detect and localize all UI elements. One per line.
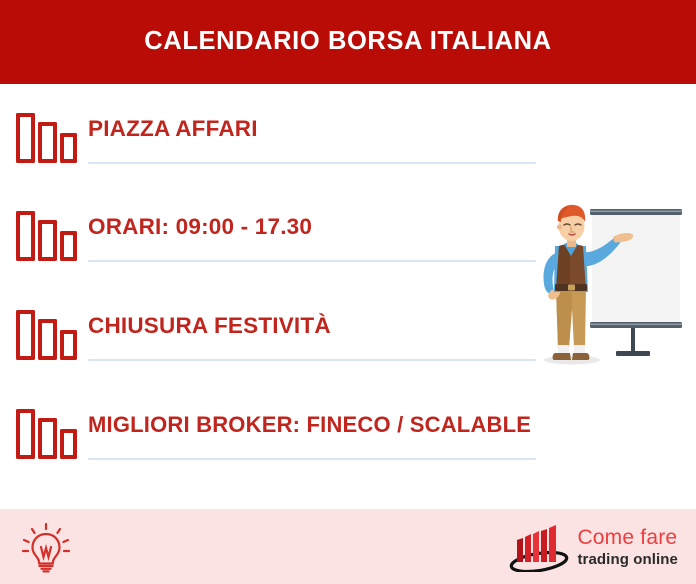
- bar-chart-icon: [16, 211, 78, 261]
- list-item: PIAZZA AFFARI: [16, 112, 536, 186]
- bar-chart-icon: [16, 113, 78, 163]
- figure-belt-buckle: [568, 285, 575, 291]
- figure-sock-left: [558, 345, 569, 354]
- list-item-divider: [88, 458, 536, 460]
- figure-sock-right: [574, 345, 585, 354]
- list-item-divider: [88, 359, 536, 361]
- bar-chart-icon-bar-1: [16, 211, 35, 261]
- flipchart-stand: [616, 324, 650, 356]
- header-band: CALENDARIO BORSA ITALIANA: [0, 0, 696, 84]
- list-item: MIGLIORI BROKER: FINECO / SCALABLE: [16, 408, 536, 482]
- page-title: CALENDARIO BORSA ITALIANA: [144, 29, 551, 55]
- list-item-label: ORARI: 09:00 - 17.30: [88, 210, 536, 244]
- list-item-body: ORARI: 09:00 - 17.30: [78, 210, 536, 244]
- logo-bars: [517, 525, 556, 562]
- figure-legs: [556, 288, 586, 348]
- list-item-divider: [88, 162, 536, 164]
- bar-chart-icon-bar-3: [60, 429, 77, 459]
- bar-chart-icon-bar-1: [16, 113, 35, 163]
- presenter-illustration: [528, 196, 692, 368]
- figure-shoe-left: [553, 353, 571, 360]
- figure-shoe-right: [572, 353, 589, 360]
- lightbulb-icon: [18, 521, 74, 575]
- list-item-body: PIAZZA AFFARI: [78, 112, 536, 146]
- footer-band: Come fare trading online: [0, 509, 696, 584]
- bar-chart-icon-bar-1: [16, 310, 35, 360]
- list-item-label: CHIUSURA FESTIVITÀ: [88, 309, 536, 343]
- bar-chart-icon-bar-3: [60, 133, 77, 163]
- flipchart-board: [590, 209, 682, 328]
- bar-chart-logo-mark: [509, 522, 571, 572]
- bar-chart-icon: [16, 409, 78, 459]
- list-item-body: CHIUSURA FESTIVITÀ: [78, 309, 536, 343]
- bar-chart-icon-bar-2: [38, 418, 57, 459]
- list-item: ORARI: 09:00 - 17.30: [16, 210, 536, 284]
- bar-chart-icon-bar-3: [60, 231, 77, 261]
- bar-chart-icon-bar-2: [38, 122, 57, 163]
- infographic-canvas: CALENDARIO BORSA ITALIANA PIAZZA AFFARI …: [0, 0, 696, 584]
- list-item-body: MIGLIORI BROKER: FINECO / SCALABLE: [78, 408, 536, 442]
- bar-chart-icon: [16, 310, 78, 360]
- bar-chart-icon-bar-2: [38, 319, 57, 360]
- brand-logo[interactable]: Come fare trading online: [509, 521, 678, 573]
- bar-chart-icon-bar-3: [60, 330, 77, 360]
- list-item: CHIUSURA FESTIVITÀ: [16, 309, 536, 383]
- brand-logo-text: Come fare trading online: [577, 527, 678, 567]
- bar-chart-icon-bar-2: [38, 220, 57, 261]
- brand-name-secondary: trading online: [577, 552, 678, 567]
- list-item-label: MIGLIORI BROKER: FINECO / SCALABLE: [88, 408, 536, 442]
- list-item-label: PIAZZA AFFARI: [88, 112, 536, 146]
- list-item-divider: [88, 260, 536, 262]
- bar-chart-icon-bar-1: [16, 409, 35, 459]
- figure-ear: [557, 224, 562, 229]
- brand-name-primary: Come fare: [577, 527, 678, 548]
